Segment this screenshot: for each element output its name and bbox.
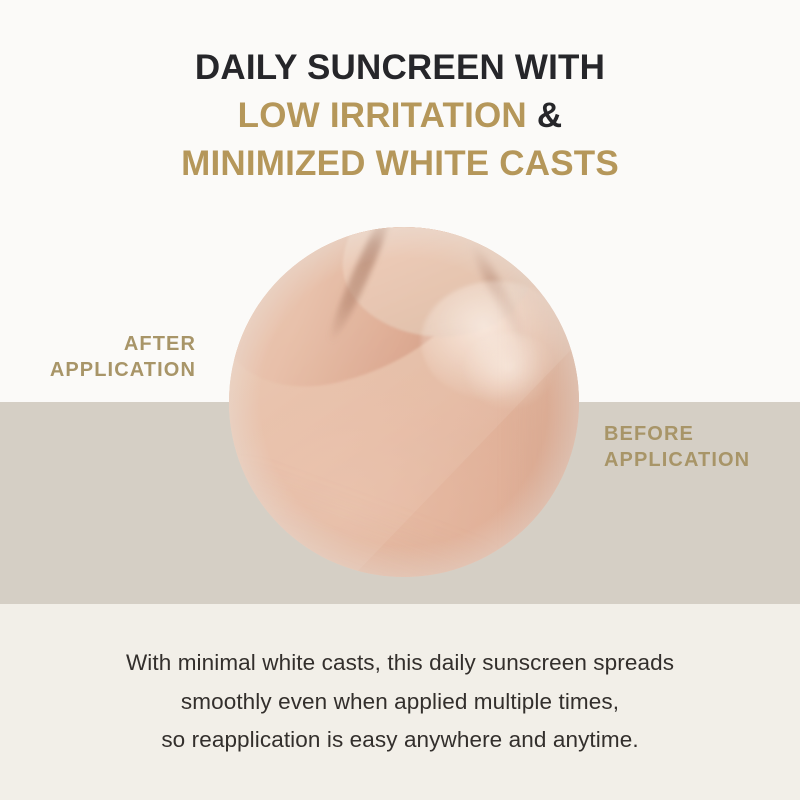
headline-line-2-text: LOW IRRITATION: [238, 96, 527, 135]
label-before-line-1: BEFORE: [604, 423, 694, 445]
headline-block: DAILY SUNCREEN WITH LOW IRRITATION & MIN…: [0, 46, 800, 186]
body-copy-block: With minimal white casts, this daily sun…: [0, 644, 800, 760]
hand-photo: [229, 227, 579, 577]
comparison-swatch-circle: [229, 227, 579, 577]
headline-line-3: MINIMIZED WHITE CASTS: [0, 142, 800, 186]
label-before-line-2: APPLICATION: [604, 449, 750, 471]
label-after-line-2: APPLICATION: [50, 359, 196, 381]
headline-line-2: LOW IRRITATION &: [0, 94, 800, 138]
body-copy-line-1: With minimal white casts, this daily sun…: [0, 644, 800, 683]
label-after-line-1: AFTER: [124, 333, 196, 355]
headline-line-1: DAILY SUNCREEN WITH: [0, 46, 800, 90]
headline-ampersand: &: [537, 96, 562, 135]
promo-page: DAILY SUNCREEN WITH LOW IRRITATION & MIN…: [0, 0, 800, 800]
body-copy-line-2: smoothly even when applied multiple time…: [0, 683, 800, 722]
label-after-application: AFTER APPLICATION: [0, 331, 196, 384]
body-copy-line-3: so reapplication is easy anywhere and an…: [0, 721, 800, 760]
label-before-application: BEFORE APPLICATION: [604, 421, 800, 474]
